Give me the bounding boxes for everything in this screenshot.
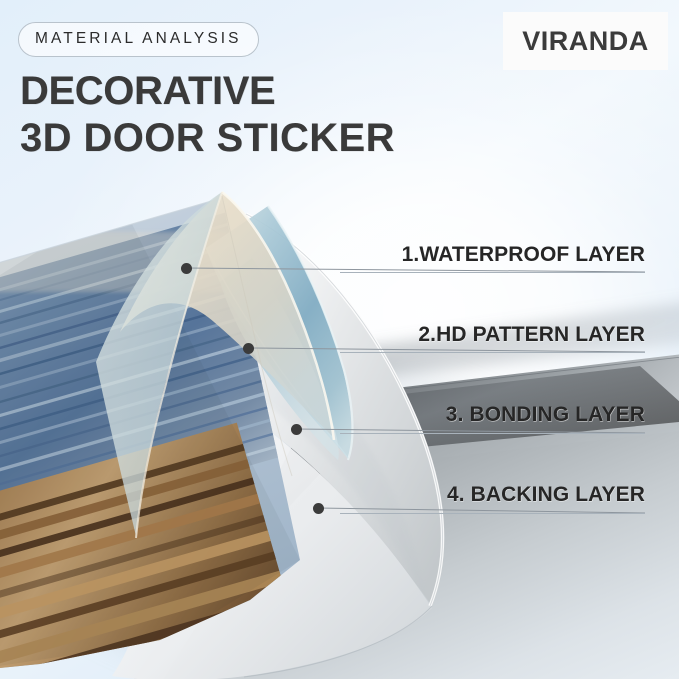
callout-dot-3[interactable] — [291, 424, 302, 435]
callout-label-1: 1.WATERPROOF LAYER — [402, 243, 645, 272]
callout-dot-1[interactable] — [181, 263, 192, 274]
callout-label-2: 2.HD PATTERN LAYER — [418, 323, 645, 352]
brand-logo-box: VIRANDA — [503, 12, 668, 70]
brand-name: VIRANDA — [522, 26, 649, 57]
callout-rule-2 — [340, 352, 645, 353]
callout-label-4: 4. BACKING LAYER — [447, 483, 645, 512]
callout-dot-2[interactable] — [243, 343, 254, 354]
callout-rule-1 — [340, 272, 645, 273]
material-analysis-badge: MATERIAL ANALYSIS — [18, 22, 259, 57]
callout-rule-3 — [340, 433, 645, 434]
page-title-line-1: DECORATIVE — [20, 68, 395, 115]
callout-dot-4[interactable] — [313, 503, 324, 514]
callout-rule-4 — [340, 513, 645, 514]
page-title-line-2: 3D DOOR STICKER — [20, 115, 395, 162]
callout-label-3: 3. BONDING LAYER — [446, 403, 645, 432]
page-title: DECORATIVE 3D DOOR STICKER — [20, 68, 395, 162]
